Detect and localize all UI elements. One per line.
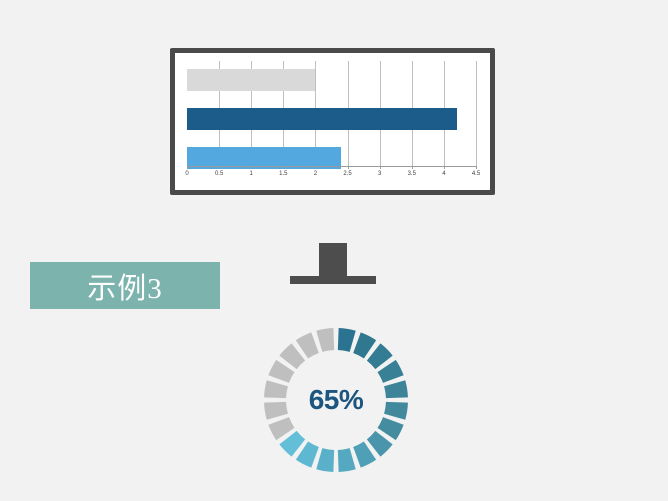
donut-segment-empty xyxy=(316,328,334,352)
x-axis-tick-label: 4.5 xyxy=(472,170,480,178)
x-axis-tick xyxy=(315,166,316,169)
x-axis-tick-label: 3.5 xyxy=(408,170,416,178)
x-axis-line xyxy=(187,166,476,167)
x-axis-tick-label: 2 xyxy=(314,170,317,178)
x-axis-tick xyxy=(348,166,349,169)
x-axis-tick xyxy=(444,166,445,169)
donut-segment-filled xyxy=(384,380,408,398)
x-axis-tick-label: 0 xyxy=(185,170,188,178)
monitor-graphic: 00.511.522.533.544.5 xyxy=(170,48,495,195)
x-axis-tick xyxy=(219,166,220,169)
donut-segment-filled xyxy=(338,448,356,472)
donut-segment-empty xyxy=(264,380,288,398)
x-axis-tick-label: 4 xyxy=(442,170,445,178)
monitor-screen: 00.511.522.533.544.5 xyxy=(175,53,490,190)
slide-canvas: 00.511.522.533.544.5 示例3 65% xyxy=(0,0,668,501)
x-axis-tick xyxy=(187,166,188,169)
x-axis-tick-label: 3 xyxy=(378,170,381,178)
x-axis-tick xyxy=(251,166,252,169)
x-axis-tick xyxy=(283,166,284,169)
donut-segment-filled xyxy=(384,402,408,420)
monitor-stand-neck xyxy=(319,243,347,276)
donut-progress-chart: 65% xyxy=(258,322,414,478)
x-axis-tick-label: 2.5 xyxy=(343,170,351,178)
x-axis-tick-label: 0.5 xyxy=(215,170,223,178)
donut-progress-svg xyxy=(258,322,414,478)
section-banner-label: 示例3 xyxy=(30,262,220,309)
donut-segment-empty xyxy=(264,402,288,420)
chart-bar xyxy=(187,108,457,130)
x-axis-tick xyxy=(380,166,381,169)
donut-segment-filled xyxy=(316,448,334,472)
bar-chart-plot-area xyxy=(187,61,476,166)
bar-chart: 00.511.522.533.544.5 xyxy=(187,61,482,184)
donut-segment-filled xyxy=(338,328,356,352)
x-axis-tick-label: 1.5 xyxy=(279,170,287,178)
chart-gridline xyxy=(476,61,477,166)
x-axis-tick xyxy=(412,166,413,169)
section-banner: 示例3 xyxy=(30,262,220,309)
bar-chart-x-axis: 00.511.522.533.544.5 xyxy=(187,166,476,184)
x-axis-tick xyxy=(476,166,477,169)
chart-bar xyxy=(187,69,315,91)
monitor-stand-base xyxy=(290,276,376,284)
x-axis-tick-label: 1 xyxy=(250,170,253,178)
